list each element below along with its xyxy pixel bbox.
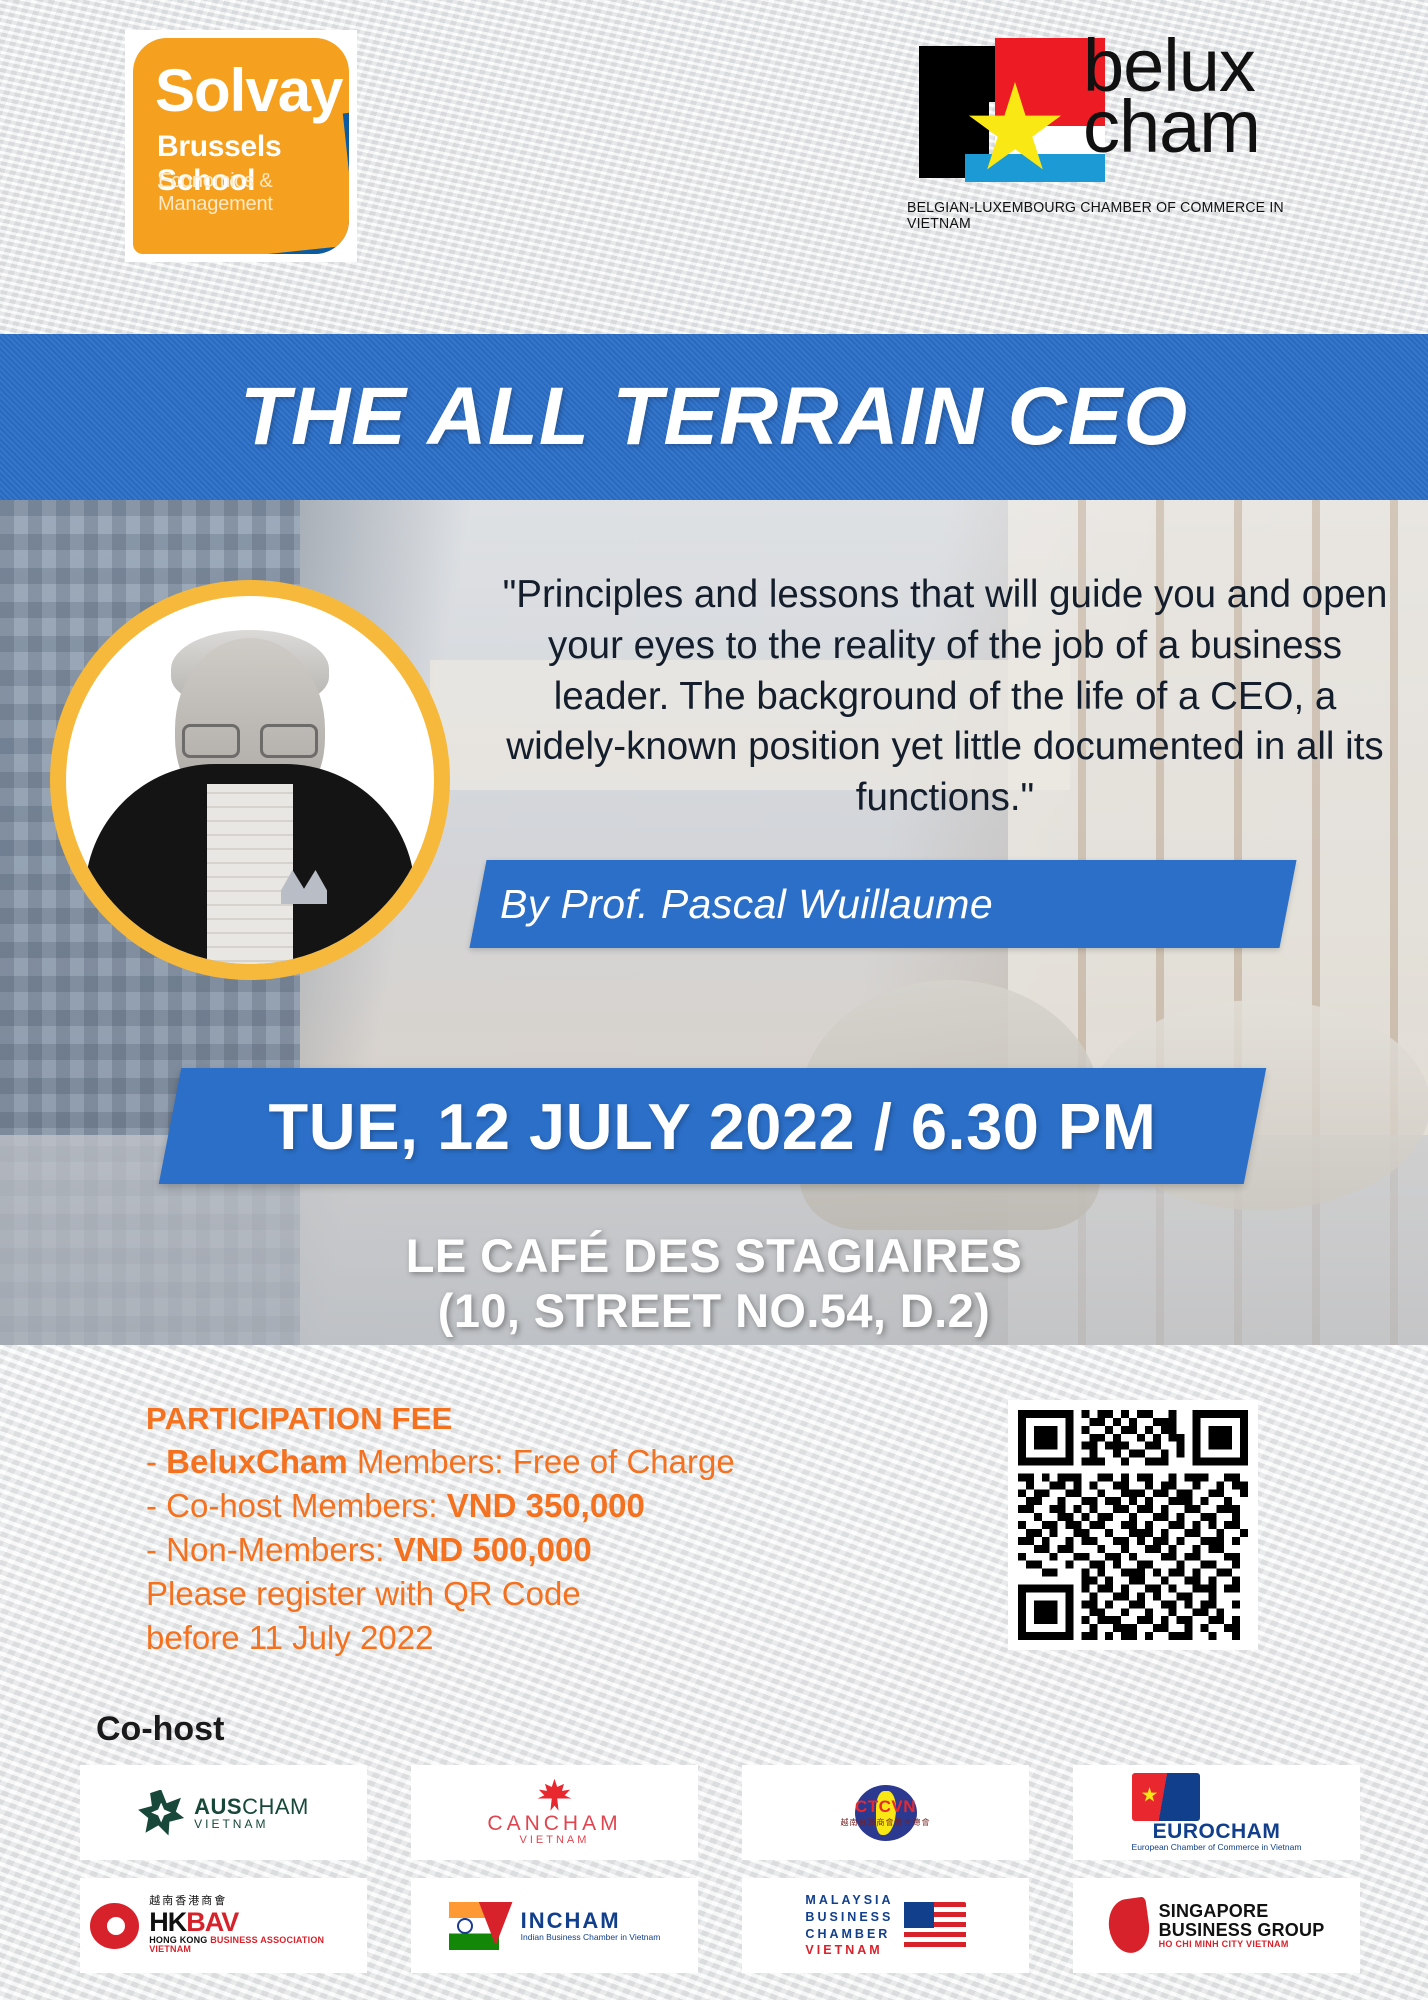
singapore-flame-icon xyxy=(1105,1896,1152,1955)
speaker-portrait-avatar xyxy=(50,580,450,980)
cohost-logo-incham: INCHAM Indian Business Chamber in Vietna… xyxy=(411,1878,698,1973)
beluxcham-tagline: BELGIAN-LUXEMBOURG CHAMBER OF COMMERCE I… xyxy=(907,200,1295,232)
solvay-logo-line1: Solvay xyxy=(155,56,342,125)
sbg-line2: BUSINESS GROUP xyxy=(1159,1921,1325,1940)
title-banner: THE ALL TERRAIN CEO xyxy=(0,334,1428,500)
solvay-logo-line3: Economics & Management xyxy=(158,170,349,216)
eu-vietnam-flag-icon xyxy=(1132,1773,1200,1821)
fee-belux-value: Members: Free of Charge xyxy=(348,1443,735,1480)
mbc-line4: VIETNAM xyxy=(805,1942,893,1959)
cohost-logo-ctcvn: CTCVN 越南台灣商會聯合總會 xyxy=(742,1765,1029,1860)
cohost-logo-malaysia: MALAYSIA BUSINESS CHAMBER VIETNAM xyxy=(742,1878,1029,1973)
portrait-shirt xyxy=(207,784,293,974)
cancham-country: VIETNAM xyxy=(487,1835,621,1847)
register-instruction-line1: Please register with QR Code xyxy=(146,1572,866,1616)
sbg-line3: HO CHI MINH CITY VIETNAM xyxy=(1159,1940,1325,1949)
beluxcham-word2: cham xyxy=(1083,97,1260,158)
cancham-name: CANCHAM xyxy=(487,1813,621,1835)
qr-code[interactable] xyxy=(1008,1400,1258,1650)
ctcvn-chinese: 越南台灣商會聯合總會 xyxy=(821,1817,951,1828)
sbg-line1: SINGAPORE xyxy=(1159,1902,1325,1921)
fee-cohost-value: VND 350,000 xyxy=(447,1487,645,1524)
fee-nonmember-value: VND 500,000 xyxy=(394,1531,592,1568)
fee-line-beluxcham: - BeluxCham Members: Free of Charge xyxy=(146,1440,866,1484)
quote-text: "Principles and lessons that will guide … xyxy=(500,570,1390,824)
malaysia-flag-icon xyxy=(904,1902,966,1950)
mbc-line3: CHAMBER xyxy=(805,1926,893,1943)
auscham-country: VIETNAM xyxy=(194,1818,309,1831)
mbc-line1: MALAYSIA xyxy=(805,1892,893,1909)
cohost-logo-cancham: CANCHAM VIETNAM xyxy=(411,1765,698,1860)
ctcvn-name: CTCVN xyxy=(821,1797,951,1817)
cohost-logo-grid: AUSCHAM VIETNAM CANCHAM VIETNAM CTCVN 越南… xyxy=(80,1765,1360,1973)
glasses-icon xyxy=(182,724,318,754)
cohost-logo-auscham: AUSCHAM VIETNAM xyxy=(80,1765,367,1860)
auscham-star-icon xyxy=(138,1790,184,1836)
beluxcham-logo: belux cham BELGIAN-LUXEMBOURG CHAMBER OF… xyxy=(905,38,1305,233)
hkbav-bav: BAV xyxy=(186,1907,238,1937)
maple-leaf-icon xyxy=(537,1779,571,1811)
mbc-line2: BUSINESS xyxy=(805,1909,893,1926)
fee-bullet-1: - xyxy=(146,1443,166,1480)
fee-cohost-label: - Co-host Members: xyxy=(146,1487,447,1524)
qr-code-icon xyxy=(1018,1410,1248,1640)
eurocham-name: EUROCHAM xyxy=(1132,1821,1302,1843)
fee-nonmember-label: - Non-Members: xyxy=(146,1531,394,1568)
event-poster: Solvay Brussels School Economics & Manag… xyxy=(0,0,1428,2000)
register-instruction-line2: before 11 July 2022 xyxy=(146,1616,866,1660)
eurocham-subtitle: European Chamber of Commerce in Vietnam xyxy=(1132,1843,1302,1852)
fee-belux-label: BeluxCham xyxy=(166,1443,348,1480)
participation-fee-block: PARTICIPATION FEE - BeluxCham Members: F… xyxy=(146,1398,866,1661)
beluxcham-wordmark: belux cham xyxy=(1083,36,1260,157)
logo-header: Solvay Brussels School Economics & Manag… xyxy=(0,0,1428,330)
incham-name: INCHAM xyxy=(521,1909,661,1932)
venue-name: LE CAFÉ DES STAGIAIRES xyxy=(0,1228,1428,1283)
cohost-logo-singapore: SINGAPORE BUSINESS GROUP HO CHI MINH CIT… xyxy=(1073,1878,1360,1973)
incham-subtitle: Indian Business Chamber in Vietnam xyxy=(521,1933,661,1942)
solvay-logo: Solvay Brussels School Economics & Manag… xyxy=(125,30,357,262)
page-title: THE ALL TERRAIN CEO xyxy=(240,370,1188,464)
fee-line-nonmember: - Non-Members: VND 500,000 xyxy=(146,1528,866,1572)
speaker-name: By Prof. Pascal Wuillaume xyxy=(500,860,1310,948)
venue-address: (10, STREET NO.54, D.2) xyxy=(0,1283,1428,1338)
hkbav-hk: HK xyxy=(149,1907,186,1937)
cohost-logo-hkbav: 越南香港商會 HKBAV HONG KONG BUSINESS ASSOCIAT… xyxy=(80,1878,367,1973)
auscham-cham: CHAM xyxy=(242,1794,309,1819)
beluxcham-flag-mark-icon xyxy=(905,38,1065,178)
fee-line-cohost: - Co-host Members: VND 350,000 xyxy=(146,1484,866,1528)
participation-fee-heading: PARTICIPATION FEE xyxy=(146,1398,866,1440)
venue-block: LE CAFÉ DES STAGIAIRES (10, STREET NO.54… xyxy=(0,1228,1428,1339)
bauhinia-flower-icon xyxy=(90,1903,139,1949)
cohost-heading: Co-host xyxy=(96,1710,224,1749)
cohost-logo-eurocham: EUROCHAM European Chamber of Commerce in… xyxy=(1073,1765,1360,1860)
event-datetime: TUE, 12 JULY 2022 / 6.30 PM xyxy=(170,1068,1255,1184)
auscham-aus: AUS xyxy=(194,1794,242,1819)
